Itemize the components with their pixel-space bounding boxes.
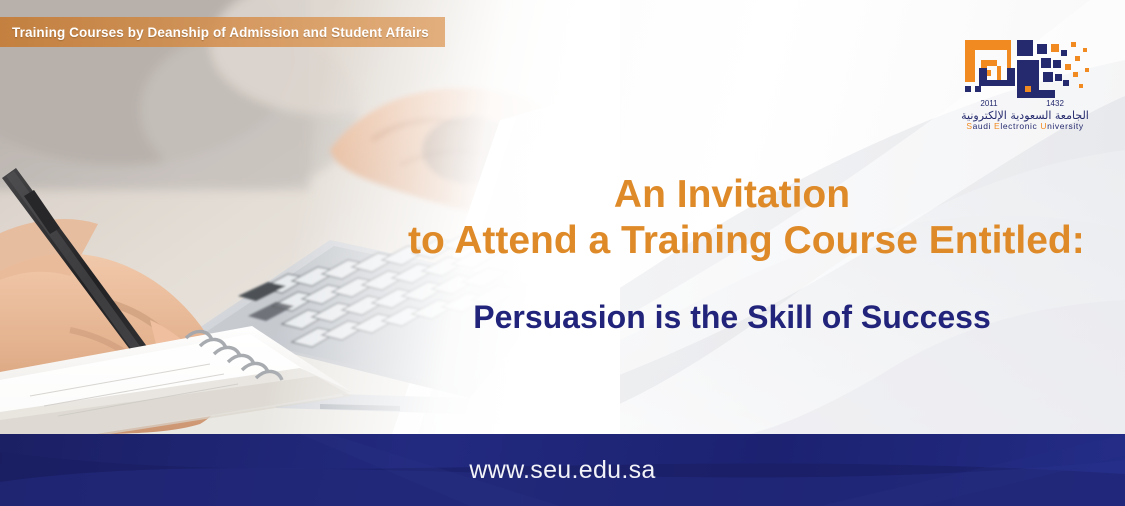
- svg-text:2011: 2011: [980, 99, 998, 108]
- svg-text:Saudi Electronic University: Saudi Electronic University: [966, 121, 1084, 131]
- svg-text:1432: 1432: [1046, 99, 1064, 108]
- footer-band: www.seu.edu.sa: [0, 434, 1125, 506]
- headline-line-2: to Attend a Training Course Entitled:: [408, 218, 1056, 264]
- course-title: Persuasion is the Skill of Success: [408, 298, 1056, 336]
- course-category-badge: Training Courses by Deanship of Admissio…: [0, 17, 445, 47]
- headline-block: An Invitation to Attend a Training Cours…: [408, 172, 1056, 264]
- headline-line-1: An Invitation: [408, 172, 1056, 218]
- seu-invitation-banner: Training Courses by Deanship of Admissio…: [0, 0, 1125, 506]
- footer-website-url[interactable]: www.seu.edu.sa: [0, 434, 1125, 506]
- badge-label: Training Courses by Deanship of Admissio…: [12, 25, 429, 40]
- saudi-electronic-university-logo: 2011 1432 الجامعة السعودية الإلكترونية S…: [955, 24, 1095, 132]
